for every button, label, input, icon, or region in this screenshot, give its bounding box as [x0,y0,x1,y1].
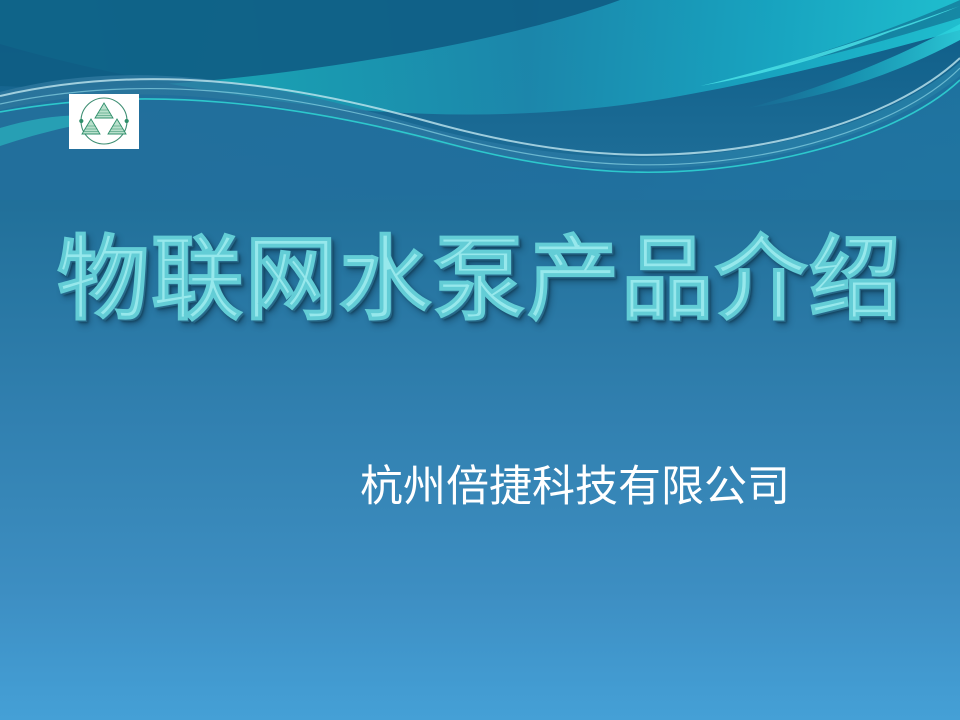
three-pyramid-circle-icon [69,94,139,149]
slide-subtitle: 杭州倍捷科技有限公司 [260,462,890,512]
wave-shape-teal-body [0,0,960,114]
slide-title: 物联网水泵产品介绍 [0,228,960,332]
decorative-wave-band [0,0,960,200]
wave-shape-inner-shadow [0,76,960,200]
wave-line-highlight-long [0,58,960,155]
wave-shape-dark-overlay-right [770,0,960,68]
presentation-slide: 物联网水泵产品介绍 杭州倍捷科技有限公司 [0,0,960,720]
wave-line-cyan-upper [700,6,960,86]
wave-line-teal-accent [0,80,960,172]
wave-shape-dark-overlay [0,0,620,87]
company-logo [69,94,139,149]
wave-shape-right-crescent [748,24,960,108]
wave-shape-soft-band [0,62,960,200]
wave-line-highlight-thin [0,68,960,165]
